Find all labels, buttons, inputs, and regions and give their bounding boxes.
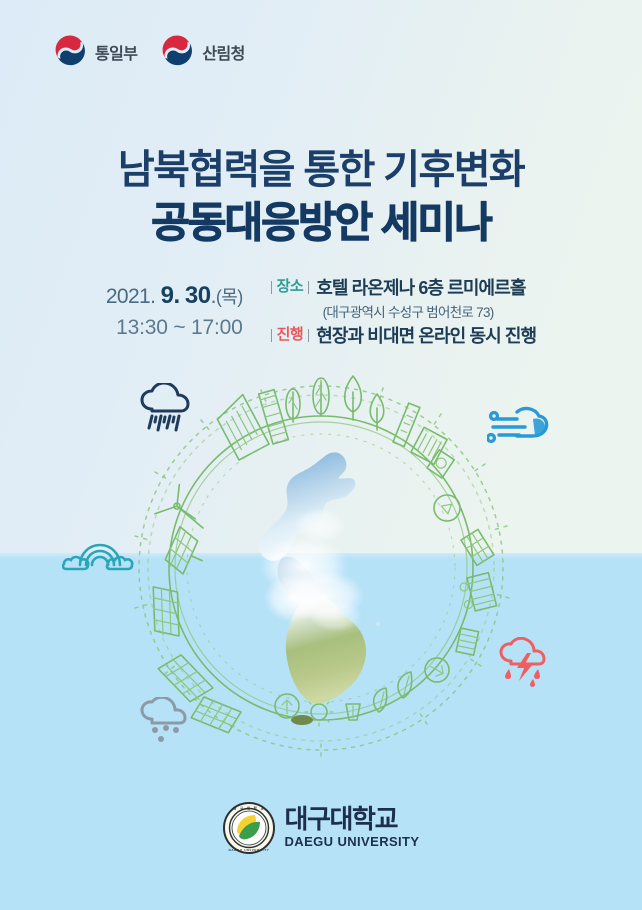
divider-bar-icon [271,329,272,342]
snow-cloud-icon [139,697,191,743]
poster-title: 남북협력을 통한 기후변화 공동대응방안 세미나 [0,146,642,248]
organizer-label: 산림청 [202,40,244,64]
university-name-kr: 대구대학교 [285,806,420,832]
organizer-logos: 통일부 산림청 [52,34,245,70]
mode-label-text: 진행 [277,326,304,345]
daegu-university-seal-icon: 대 구 대 학 교 DAEGU UNIVERSITY [223,802,275,854]
divider-bar-icon [308,329,309,342]
organizer-label: 통일부 [95,40,137,64]
svg-text:DAEGU UNIVERSITY: DAEGU UNIVERSITY [228,848,269,852]
university-logo: 대 구 대 학 교 DAEGU UNIVERSITY 대구대학교 DAEGU U… [0,802,642,854]
venue-label-text: 장소 [277,278,304,297]
rainbow-cloud-icon [62,531,134,573]
mode-line: 진행 현장과 비대면 온라인 동시 진행 [271,325,537,348]
university-name-en: DAEGU UNIVERSITY [285,835,420,848]
event-date: 2021. 9. 30.(목) [106,279,243,313]
seminar-poster: 통일부 산림청 남북협력을 통한 기후변화 공동대응방안 세미나 2021. 9… [0,0,642,910]
event-day: 30 [185,282,211,309]
event-info: 2021. 9. 30.(목) 13:30 ~ 17:00 장소 호텔 라온제나… [0,277,642,347]
event-year: 2021. [106,285,156,308]
university-name: 대구대학교 DAEGU UNIVERSITY [285,806,420,850]
venue-line: 장소 호텔 라온제나 6층 르미에르홀 [271,277,537,300]
rain-cloud-icon [138,383,194,435]
venue-value: 호텔 라온제나 6층 르미에르홀 [316,277,525,300]
svg-text:대 구 대 학 교: 대 구 대 학 교 [233,806,265,811]
divider-bar-icon [308,281,309,294]
divider-bar-icon [271,281,272,294]
event-details: 장소 호텔 라온제나 6층 르미에르홀 (대구광역시 수성구 범어천로 73) … [261,277,537,347]
event-schedule: 2021. 9. 30.(목) 13:30 ~ 17:00 [106,277,261,343]
event-time: 13:30 ~ 17:00 [106,313,243,343]
organizer-logo-forest-service: 산림청 [159,34,244,70]
wind-cloud-icon [487,406,549,450]
title-line-2: 공동대응방안 세미나 [0,197,642,248]
event-day-of-week: (목) [216,287,243,307]
taegeuk-icon [52,34,88,70]
taegeuk-icon [159,34,195,70]
event-month: 9. [161,282,180,309]
korean-peninsula-map [232,448,412,748]
thunderstorm-icon [497,637,551,689]
mode-label: 진행 [271,326,310,345]
mode-value: 현장과 비대면 온라인 동시 진행 [316,325,536,348]
venue-label: 장소 [271,278,310,297]
venue-address: (대구광역시 수성구 범어천로 73) [323,301,537,321]
organizer-logo-unification: 통일부 [52,34,137,70]
title-line-1: 남북협력을 통한 기후변화 [0,146,642,195]
